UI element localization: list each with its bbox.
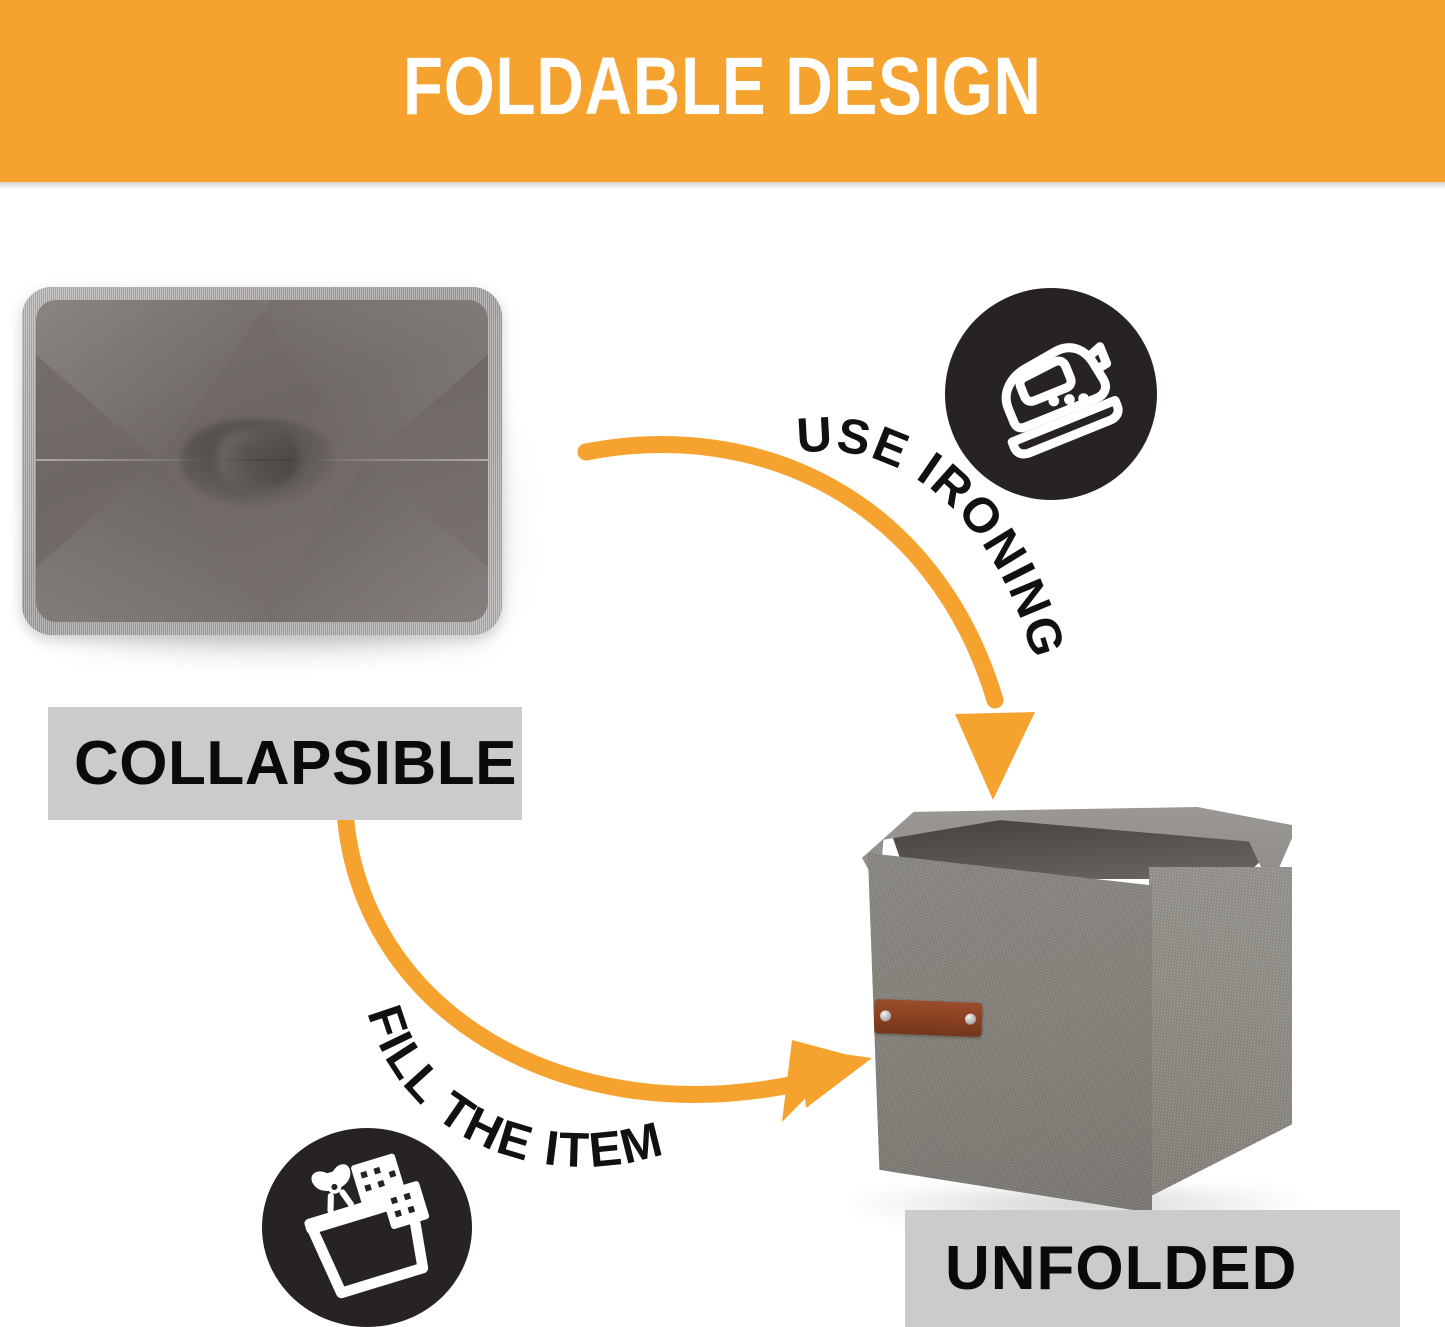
handle-rivet-left	[880, 1010, 891, 1021]
leather-handle	[873, 999, 982, 1037]
label-collapsible-text: COLLAPSIBLE	[74, 733, 517, 795]
label-unfolded: UNFOLDED	[905, 1210, 1400, 1327]
handle-rivet-right	[965, 1013, 976, 1024]
folded-bin-body	[22, 287, 502, 635]
unfolded-bin-side-panel	[1149, 867, 1292, 1197]
unfolded-bin-front-panel	[862, 853, 1152, 1213]
gift-items-icon	[291, 1152, 443, 1304]
header-banner: FOLDABLE DESIGN	[0, 0, 1445, 182]
folded-bin-fabric-panel	[36, 300, 488, 622]
label-collapsible: COLLAPSIBLE	[48, 707, 522, 820]
page-title: FOLDABLE DESIGN	[403, 46, 1042, 136]
unfolded-storage-bin-photo	[862, 807, 1292, 1227]
label-unfolded-text: UNFOLDED	[945, 1238, 1297, 1300]
folded-storage-bin-photo	[22, 287, 522, 654]
fold-center-highlight	[217, 429, 298, 487]
iron-icon	[976, 319, 1126, 469]
gift-items-icon-badge	[262, 1128, 472, 1327]
iron-icon-badge	[945, 288, 1157, 500]
